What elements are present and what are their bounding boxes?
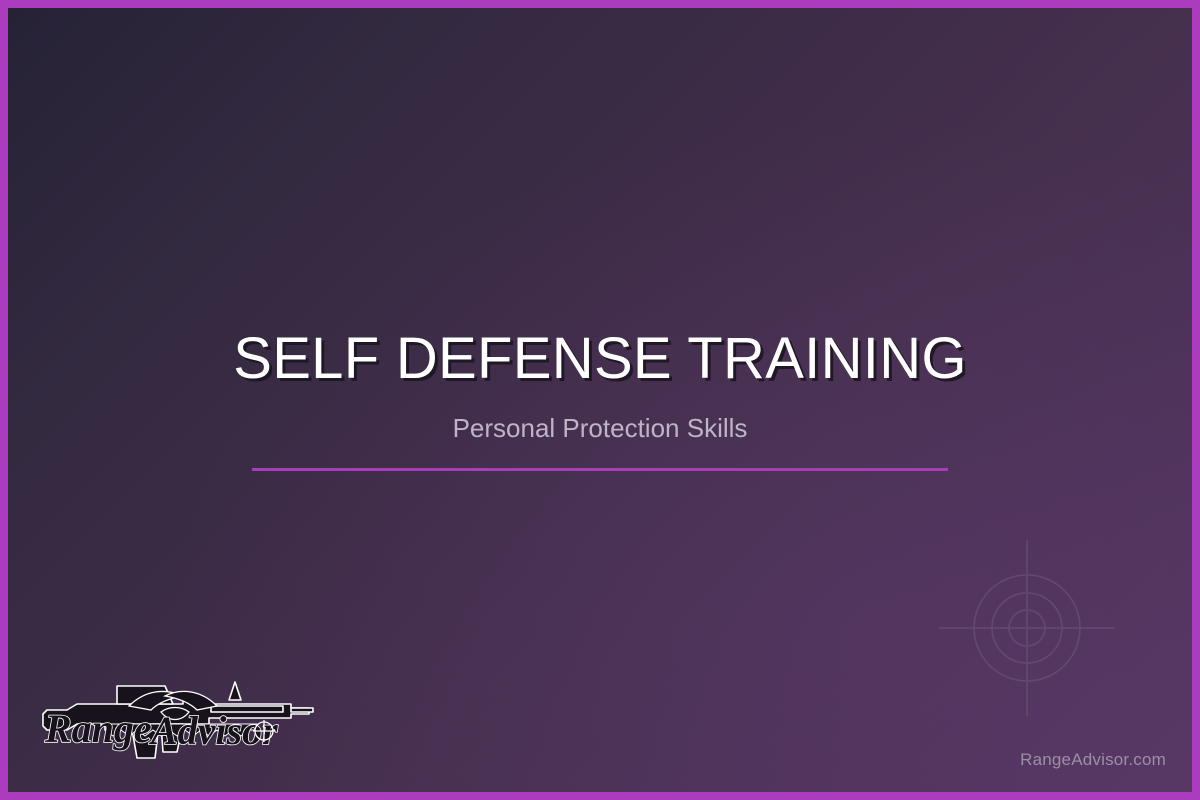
title-divider xyxy=(252,468,948,471)
presentation-slide: SELF DEFENSE TRAINING Personal Protectio… xyxy=(0,0,1200,800)
page-title: SELF DEFENSE TRAINING xyxy=(233,329,967,389)
logo-text-range: Range xyxy=(44,706,152,751)
footer-url: RangeAdvisor.com xyxy=(1020,750,1166,770)
page-subtitle: Personal Protection Skills xyxy=(453,413,748,444)
brand-logo: Range Advisor xyxy=(33,672,318,772)
